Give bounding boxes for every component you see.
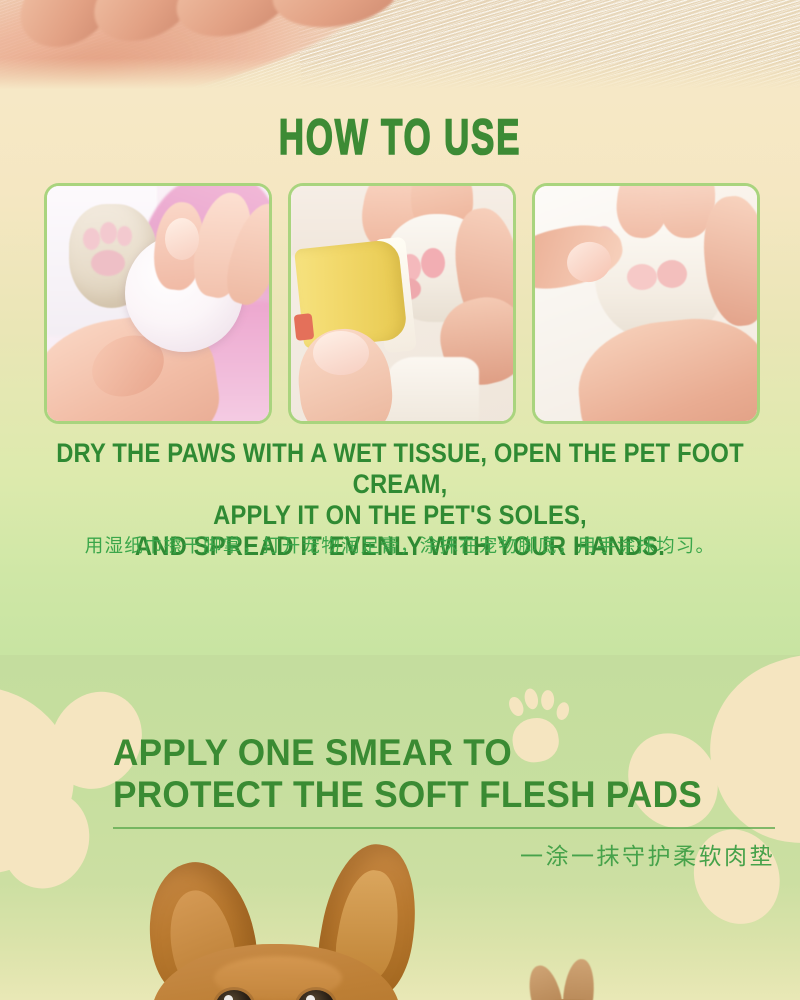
step-photo-card-1: [44, 183, 272, 424]
top-paw-photo: [0, 0, 800, 92]
dog-photo: [92, 860, 452, 1000]
instruction-line-1: DRY THE PAWS WITH A WET TISSUE, OPEN THE…: [48, 438, 752, 500]
paw-pad: [627, 264, 657, 290]
apply-protect-section: APPLY ONE SMEAR TO PROTECT THE SOFT FLES…: [0, 655, 800, 1000]
dog-eye-glint: [306, 995, 315, 1000]
paw-pad: [117, 226, 132, 246]
product-detail-page: HOW TO USE: [0, 0, 800, 1000]
paw-pad: [83, 228, 100, 250]
paw-pad: [100, 222, 117, 244]
how-to-use-section: HOW TO USE: [0, 90, 800, 655]
apply-heading-line-2: PROTECT THE SOFT FLESH PADS: [113, 774, 740, 816]
paw-toe: [555, 701, 571, 721]
paw-toe: [541, 690, 555, 710]
step-photo-card-3: [532, 183, 760, 424]
fingernail: [313, 331, 369, 375]
step-3-image: [535, 186, 757, 421]
paw-pad: [657, 260, 687, 288]
tissue: [387, 357, 479, 421]
step-photo-gallery: [44, 183, 760, 428]
fingernail: [165, 218, 199, 260]
pet-ear-right: [561, 958, 597, 1000]
paw-toe: [506, 695, 526, 719]
heading-divider: [113, 827, 775, 829]
instruction-line-2: APPLY IT ON THE PET'S SOLES,: [48, 500, 752, 531]
step-photo-card-2: [288, 183, 516, 424]
apply-heading-line-1: APPLY ONE SMEAR TO: [113, 732, 740, 774]
second-pet-photo: [520, 955, 640, 1000]
cream-tube-label: [294, 313, 315, 341]
step-2-image: [291, 186, 513, 421]
step-1-image: [47, 186, 269, 421]
pet-ear-left: [524, 962, 567, 1000]
paw-pad: [421, 248, 445, 278]
instruction-text-chinese: 用湿纸巾擦干脚掌，打开宠物润足膏，涂抹在宠物脚底，用手涂抹均习。: [0, 532, 800, 558]
photo-fade-overlay: [0, 58, 800, 92]
apply-heading: APPLY ONE SMEAR TO PROTECT THE SOFT FLES…: [113, 732, 773, 816]
paw-toe: [523, 687, 540, 710]
dog-eye-glint: [224, 995, 233, 1000]
paw-pad: [91, 250, 125, 276]
how-to-use-heading: HOW TO USE: [120, 108, 680, 166]
